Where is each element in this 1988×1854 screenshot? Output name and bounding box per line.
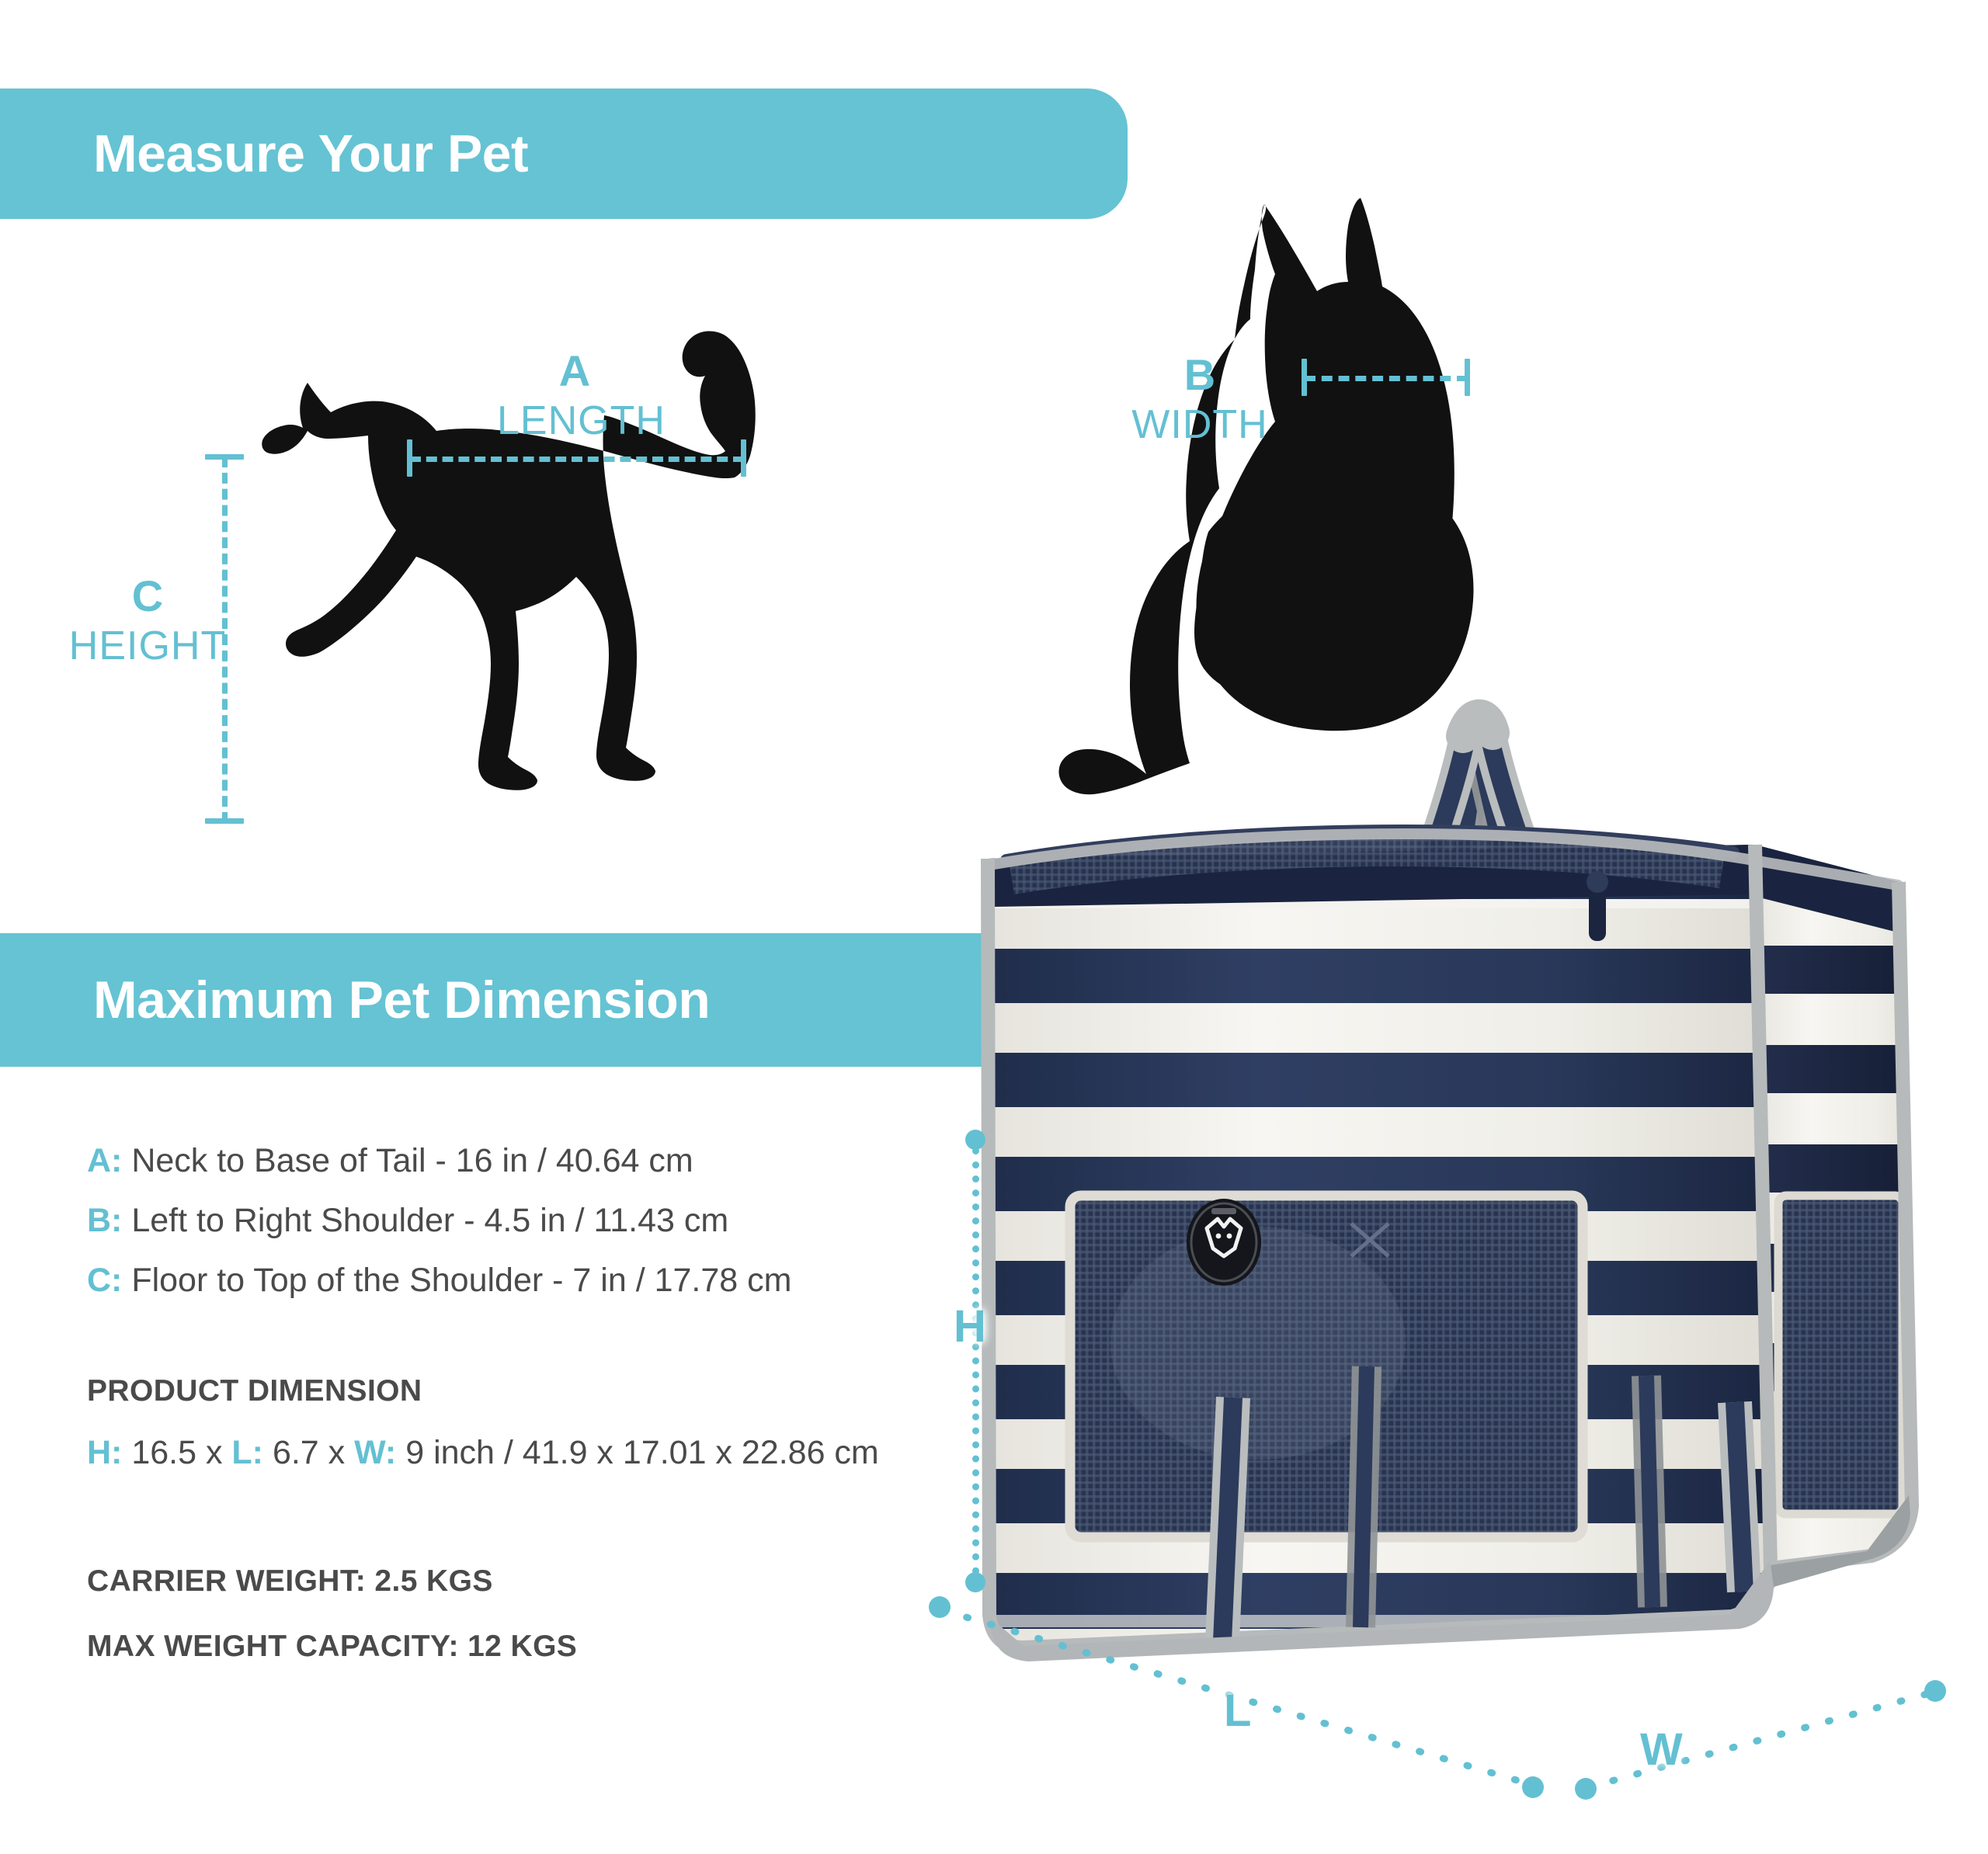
measure-word-width: WIDTH [1110, 404, 1289, 445]
length-marker-letter: L [1224, 1689, 1251, 1734]
width-rule-cap-left [1302, 359, 1307, 396]
measure-label-height: C HEIGHT [62, 575, 233, 666]
width-marker-dot-right [1924, 1680, 1946, 1702]
product-dim-value-w: 9 inch / 41.9 x 17.01 x 22.86 cm [396, 1434, 878, 1471]
dimension-line-a: A: Neck to Base of Tail - 16 in / 40.64 … [87, 1140, 791, 1182]
length-width-markers [916, 1584, 1957, 1832]
banner-maximum-title: Maximum Pet Dimension [93, 970, 710, 1030]
length-marker-dot-left [929, 1596, 951, 1618]
carrier-weight-line: CARRIER WEIGHT: 2.5 KGS [87, 1564, 577, 1599]
weight-specs-block: CARRIER WEIGHT: 2.5 KGS MAX WEIGHT CAPAC… [87, 1564, 577, 1695]
dimension-text-b: Left to Right Shoulder - 4.5 in / 11.43 … [122, 1202, 728, 1239]
product-dim-value-h: 16.5 x [122, 1434, 231, 1471]
height-marker-line [972, 1147, 979, 1575]
height-rule-cap-top [205, 454, 244, 460]
dimension-key-a: A: [87, 1142, 122, 1179]
product-dim-key-l: L: [231, 1434, 263, 1471]
measure-letter-b: B [1110, 353, 1289, 397]
measure-word-length: LENGTH [497, 401, 652, 441]
product-dim-value-l: 6.7 x [263, 1434, 354, 1471]
product-dim-key-w: W: [354, 1434, 396, 1471]
measure-label-length: A LENGTH [497, 349, 652, 441]
dimension-key-c: C: [87, 1262, 122, 1299]
dimension-line-b: B: Left to Right Shoulder - 4.5 in / 11.… [87, 1200, 791, 1242]
infographic-canvas: Measure Your Pet A LENGTH C HEIGHT B WID… [0, 0, 1988, 1854]
product-dimension-values: H: 16.5 x L: 6.7 x W: 9 inch / 41.9 x 17… [87, 1432, 879, 1474]
measure-word-height: HEIGHT [62, 626, 233, 666]
measure-letter-c: C [62, 575, 233, 618]
dimension-text-c: Floor to Top of the Shoulder - 7 in / 17… [122, 1262, 791, 1299]
measure-letter-a: A [497, 349, 652, 393]
width-rule-cap-right [1465, 359, 1470, 396]
length-marker-dot-right [1522, 1776, 1544, 1798]
height-dashed-rule [222, 457, 228, 823]
dimension-line-c: C: Floor to Top of the Shoulder - 7 in /… [87, 1259, 791, 1302]
max-pet-dimension-list: A: Neck to Base of Tail - 16 in / 40.64 … [87, 1140, 791, 1319]
product-dimension-block: PRODUCT DIMENSION H: 16.5 x L: 6.7 x W: … [87, 1374, 879, 1491]
width-marker-letter: W [1640, 1727, 1683, 1772]
height-marker-letter: H [954, 1304, 986, 1349]
length-rule-cap-left [407, 439, 412, 477]
brand-logo-badge-icon [1187, 1199, 1261, 1286]
max-weight-capacity-line: MAX WEIGHT CAPACITY: 12 KGS [87, 1630, 577, 1664]
product-dim-key-h: H: [87, 1434, 122, 1471]
height-rule-cap-bottom [205, 818, 244, 824]
length-rule-cap-right [741, 439, 746, 477]
dimension-text-a: Neck to Base of Tail - 16 in / 40.64 cm [122, 1142, 693, 1179]
banner-measure-title: Measure Your Pet [93, 123, 528, 184]
banner-measure-your-pet: Measure Your Pet [0, 89, 1128, 219]
dimension-key-b: B: [87, 1202, 122, 1239]
width-dashed-rule [1305, 376, 1468, 381]
width-marker-dot-left [1575, 1778, 1597, 1800]
product-dimension-heading: PRODUCT DIMENSION [87, 1374, 879, 1408]
length-dashed-rule [410, 457, 744, 462]
measure-label-width: B WIDTH [1110, 353, 1289, 445]
